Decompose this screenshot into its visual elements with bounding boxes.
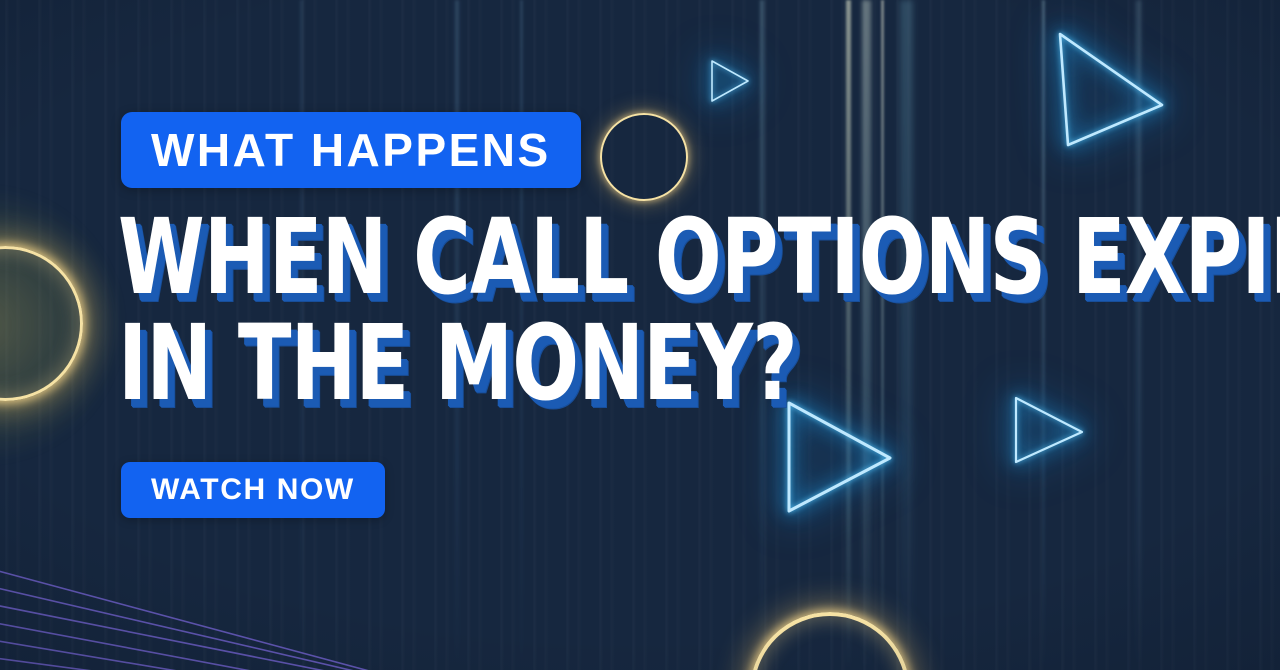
headline-line-1: WHEN CALL OPTIONS EXPIRE: [118, 208, 966, 308]
promo-banner: WHAT HAPPENS WHEN CALL OPTIONS EXPIRE IN…: [0, 0, 1280, 670]
eyebrow-badge: WHAT HAPPENS: [121, 112, 581, 188]
headline-line-2: IN THE MONEY?: [118, 314, 966, 414]
eyebrow-label: WHAT HAPPENS: [151, 127, 551, 173]
watch-now-label: WATCH NOW: [151, 475, 355, 505]
banner-content: WHAT HAPPENS WHEN CALL OPTIONS EXPIRE IN…: [0, 0, 1280, 670]
page-title: WHEN CALL OPTIONS EXPIRE IN THE MONEY?: [118, 208, 1128, 414]
watch-now-button[interactable]: WATCH NOW: [121, 462, 385, 518]
